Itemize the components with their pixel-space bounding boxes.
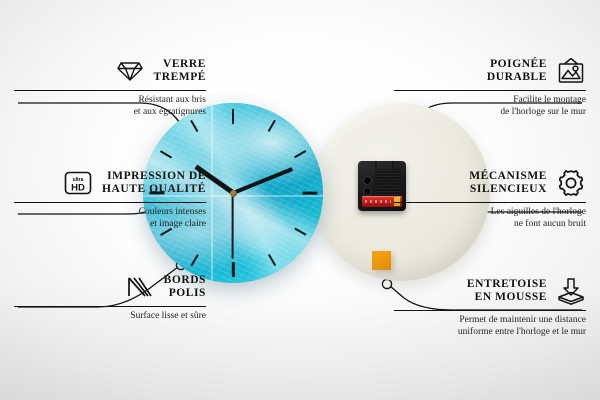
gear-icon bbox=[556, 168, 586, 198]
feature-title: ENTRETOISE EN MOUSSE bbox=[394, 278, 547, 305]
feature-description: Couleurs intenses et image claire bbox=[14, 207, 206, 230]
feature-description: Permet de maintenir une distance uniform… bbox=[394, 315, 586, 338]
feature-header: VERRE TREMPÉ bbox=[14, 56, 206, 86]
feature-header: MÉCANISME SILENCIEUX bbox=[394, 168, 586, 198]
feature-impression-haute-qualite: ultra HD IMPRESSION DE HAUTE QUALITÉ Cou… bbox=[14, 168, 206, 230]
mechanism-dial-lower bbox=[363, 187, 372, 196]
feature-divider bbox=[394, 90, 586, 91]
clock-tick bbox=[302, 192, 317, 195]
mechanism-hanging-loop bbox=[375, 161, 394, 168]
feature-title: POIGNÉE DURABLE bbox=[394, 58, 547, 85]
clock-tick bbox=[232, 262, 235, 277]
diamond-icon bbox=[115, 56, 145, 86]
ultra-hd-icon: ultra HD bbox=[63, 168, 93, 198]
feature-description: Résistant aux bris et aux égratignures bbox=[14, 95, 206, 118]
feature-description: Facilite le montage de l'horloge sur le … bbox=[394, 95, 586, 118]
feature-divider bbox=[14, 90, 206, 91]
feature-description: Surface lisse et sûre bbox=[14, 311, 206, 323]
svg-text:HD: HD bbox=[71, 183, 85, 194]
feature-description: Les aiguilles de l'horloge ne font aucun… bbox=[394, 207, 586, 230]
feature-title: IMPRESSION DE HAUTE QUALITÉ bbox=[102, 170, 206, 197]
feature-title: MÉCANISME SILENCIEUX bbox=[394, 170, 547, 197]
foam-spacer bbox=[372, 251, 391, 270]
polished-edges-icon bbox=[125, 272, 155, 302]
feature-title: VERRE TREMPÉ bbox=[154, 58, 207, 85]
feature-divider bbox=[14, 202, 206, 203]
mechanism-dial-upper bbox=[363, 176, 372, 185]
feature-divider bbox=[14, 306, 206, 307]
press-down-icon bbox=[556, 276, 586, 306]
feature-entretoise-en-mousse: ENTRETOISE EN MOUSSE Permet de maintenir… bbox=[394, 276, 586, 338]
feature-title: BORDS POLIS bbox=[164, 274, 206, 301]
infographic-canvas: VERRE TREMPÉ Résistant aux bris et aux é… bbox=[0, 0, 600, 400]
feature-header: ultra HD IMPRESSION DE HAUTE QUALITÉ bbox=[14, 168, 206, 198]
feature-header: POIGNÉE DURABLE bbox=[394, 56, 586, 86]
feature-bords-polis: BORDS POLIS Surface lisse et sûre bbox=[14, 272, 206, 323]
feature-header: ENTRETOISE EN MOUSSE bbox=[394, 276, 586, 306]
hanging-frame-icon bbox=[556, 56, 586, 86]
feature-mecanisme-silencieux: MÉCANISME SILENCIEUX Les aiguilles de l'… bbox=[394, 168, 586, 230]
clock-second-hand bbox=[232, 193, 234, 259]
connector-node-entretoise bbox=[382, 279, 391, 288]
feature-verre-trempe: VERRE TREMPÉ Résistant aux bris et aux é… bbox=[14, 56, 206, 118]
feature-divider bbox=[394, 202, 586, 203]
clock-center-cap bbox=[230, 190, 237, 197]
feature-poignee-durable: POIGNÉE DURABLE Facilite le montage de l… bbox=[394, 56, 586, 118]
feature-divider bbox=[394, 310, 586, 311]
feature-header: BORDS POLIS bbox=[14, 272, 206, 302]
clock-tick bbox=[232, 109, 235, 124]
